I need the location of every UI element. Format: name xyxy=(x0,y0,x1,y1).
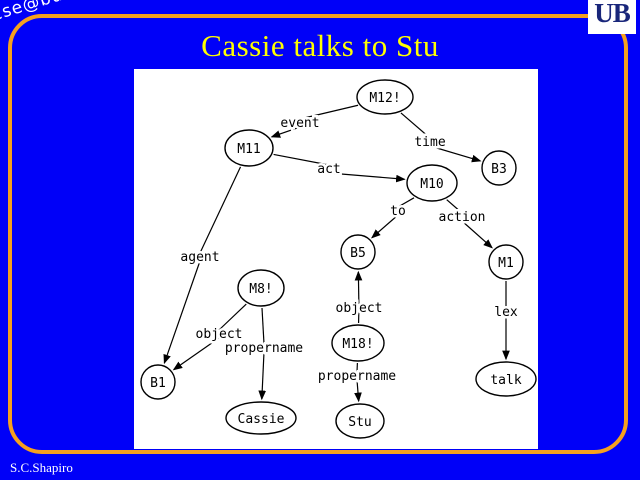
node-label: talk xyxy=(490,373,521,388)
node-label: B1 xyxy=(150,376,166,391)
node-label: M18! xyxy=(342,337,373,352)
edge-arrow-segment xyxy=(262,352,264,399)
slide-canvas: cse@buffalo UB Cassie talks to Stu M12!M… xyxy=(0,0,640,480)
edge-arrow-segment xyxy=(462,221,492,248)
edge-label-time: time xyxy=(414,135,445,150)
graph-node-M11[interactable]: M11 xyxy=(225,130,273,166)
edge-label-action: action xyxy=(439,210,486,225)
node-label: B3 xyxy=(491,162,507,177)
edge-label-object: object xyxy=(196,327,243,342)
edge-label-to: to xyxy=(390,204,406,219)
edge-label-act: act xyxy=(317,162,340,177)
node-label: M11 xyxy=(237,142,260,157)
node-label: M10 xyxy=(420,177,443,192)
node-label: M12! xyxy=(369,91,400,106)
node-label: M1 xyxy=(498,256,514,271)
edge-label-lex: lex xyxy=(494,305,518,320)
edge-label-propername: propername xyxy=(318,369,396,384)
graph-node-B3[interactable]: B3 xyxy=(482,151,516,185)
ub-logo: UB xyxy=(588,0,636,34)
edge-label-propername: propername xyxy=(225,341,303,356)
edge-arrow-segment xyxy=(174,338,219,370)
ub-logo-text: UB xyxy=(588,0,636,29)
graph-node-M18[interactable]: M18! xyxy=(332,325,384,361)
graph-node-Cassie[interactable]: Cassie xyxy=(226,402,296,434)
node-label: Cassie xyxy=(238,412,285,427)
node-label: B5 xyxy=(350,246,366,261)
graph-node-M12[interactable]: M12! xyxy=(357,80,413,114)
graph-node-M1[interactable]: M1 xyxy=(489,245,523,279)
author-credit: S.C.Shapiro xyxy=(10,460,73,476)
edge-arrow-segment xyxy=(164,261,200,363)
graph-node-Stu[interactable]: Stu xyxy=(336,404,384,438)
edge-label-object: object xyxy=(336,301,383,316)
node-label: Stu xyxy=(348,415,371,430)
edge-segment xyxy=(262,308,264,344)
node-label: M8! xyxy=(249,282,272,297)
semantic-network-graph: M12!M11B3M10B5M1M8!M18!B1talkCassieStu e… xyxy=(134,69,538,449)
edge-segment xyxy=(200,167,241,253)
graph-node-B5[interactable]: B5 xyxy=(341,235,375,269)
page-title: Cassie talks to Stu xyxy=(0,28,640,64)
graph-node-M10[interactable]: M10 xyxy=(407,165,457,201)
graph-node-M8[interactable]: M8! xyxy=(238,270,284,306)
edge-label-agent: agent xyxy=(180,250,219,265)
diagram-panel: M12!M11B3M10B5M1M8!M18!B1talkCassieStu e… xyxy=(134,69,538,449)
graph-node-talk[interactable]: talk xyxy=(476,362,536,396)
edge-label-event: event xyxy=(280,116,319,131)
graph-node-B1[interactable]: B1 xyxy=(141,365,175,399)
